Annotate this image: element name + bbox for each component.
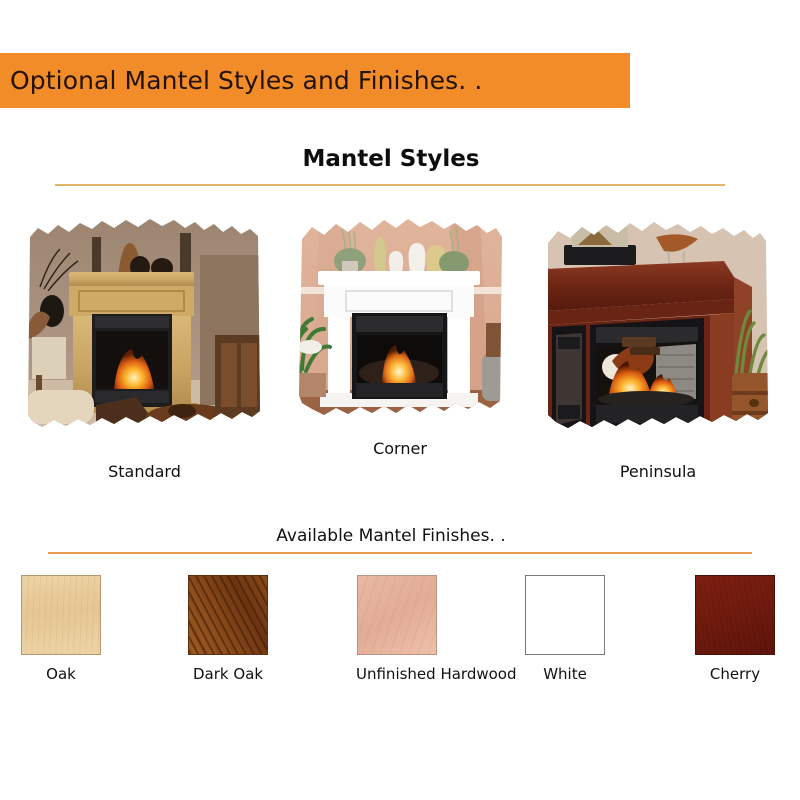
corner-fireplace-photo — [290, 215, 510, 433]
standard-fireplace-illustration — [22, 215, 267, 455]
mantel-styles-row: Standard — [0, 215, 800, 490]
finishes-divider — [48, 552, 752, 554]
mantel-style-standard[interactable]: Standard — [22, 215, 267, 455]
mantel-style-peninsula[interactable]: Peninsula — [538, 215, 778, 455]
finish-swatch-label: White — [524, 665, 606, 683]
finish-swatch-label: Unfinished Hardwood — [356, 665, 438, 683]
finish-swatch-label: Cherry — [694, 665, 776, 683]
finish-swatch-cherry[interactable]: Cherry — [694, 575, 776, 683]
mantel-style-caption: Standard — [22, 462, 267, 481]
finishes-swatch-row: Oak Dark Oak Unfinished Hardwood White C… — [0, 575, 800, 685]
white-color-chip — [525, 575, 605, 655]
available-finishes-heading: Available Mantel Finishes. . — [0, 526, 782, 546]
peninsula-fireplace-photo — [538, 215, 778, 455]
mantel-style-caption: Corner — [290, 439, 510, 458]
cherry-color-chip — [695, 575, 775, 655]
oak-color-chip — [21, 575, 101, 655]
finish-swatch-unfinished-hardwood[interactable]: Unfinished Hardwood — [356, 575, 438, 683]
finish-swatch-oak[interactable]: Oak — [20, 575, 102, 683]
mantel-styles-heading: Mantel Styles — [0, 146, 782, 172]
dark-oak-color-chip — [188, 575, 268, 655]
peninsula-fireplace-illustration — [538, 215, 778, 455]
mantel-style-caption: Peninsula — [538, 462, 778, 481]
finish-swatch-label: Oak — [20, 665, 102, 683]
finish-swatch-dark-oak[interactable]: Dark Oak — [187, 575, 269, 683]
mantel-style-corner[interactable]: Corner — [290, 215, 510, 433]
finish-swatch-white[interactable]: White — [524, 575, 606, 683]
unfinished-hardwood-color-chip — [357, 575, 437, 655]
corner-fireplace-illustration — [290, 215, 510, 433]
banner-title: Optional Mantel Styles and Finishes. . — [10, 66, 482, 95]
standard-fireplace-photo — [22, 215, 267, 455]
styles-divider — [55, 184, 725, 186]
finish-swatch-label: Dark Oak — [187, 665, 269, 683]
page-banner: Optional Mantel Styles and Finishes. . — [0, 53, 630, 108]
